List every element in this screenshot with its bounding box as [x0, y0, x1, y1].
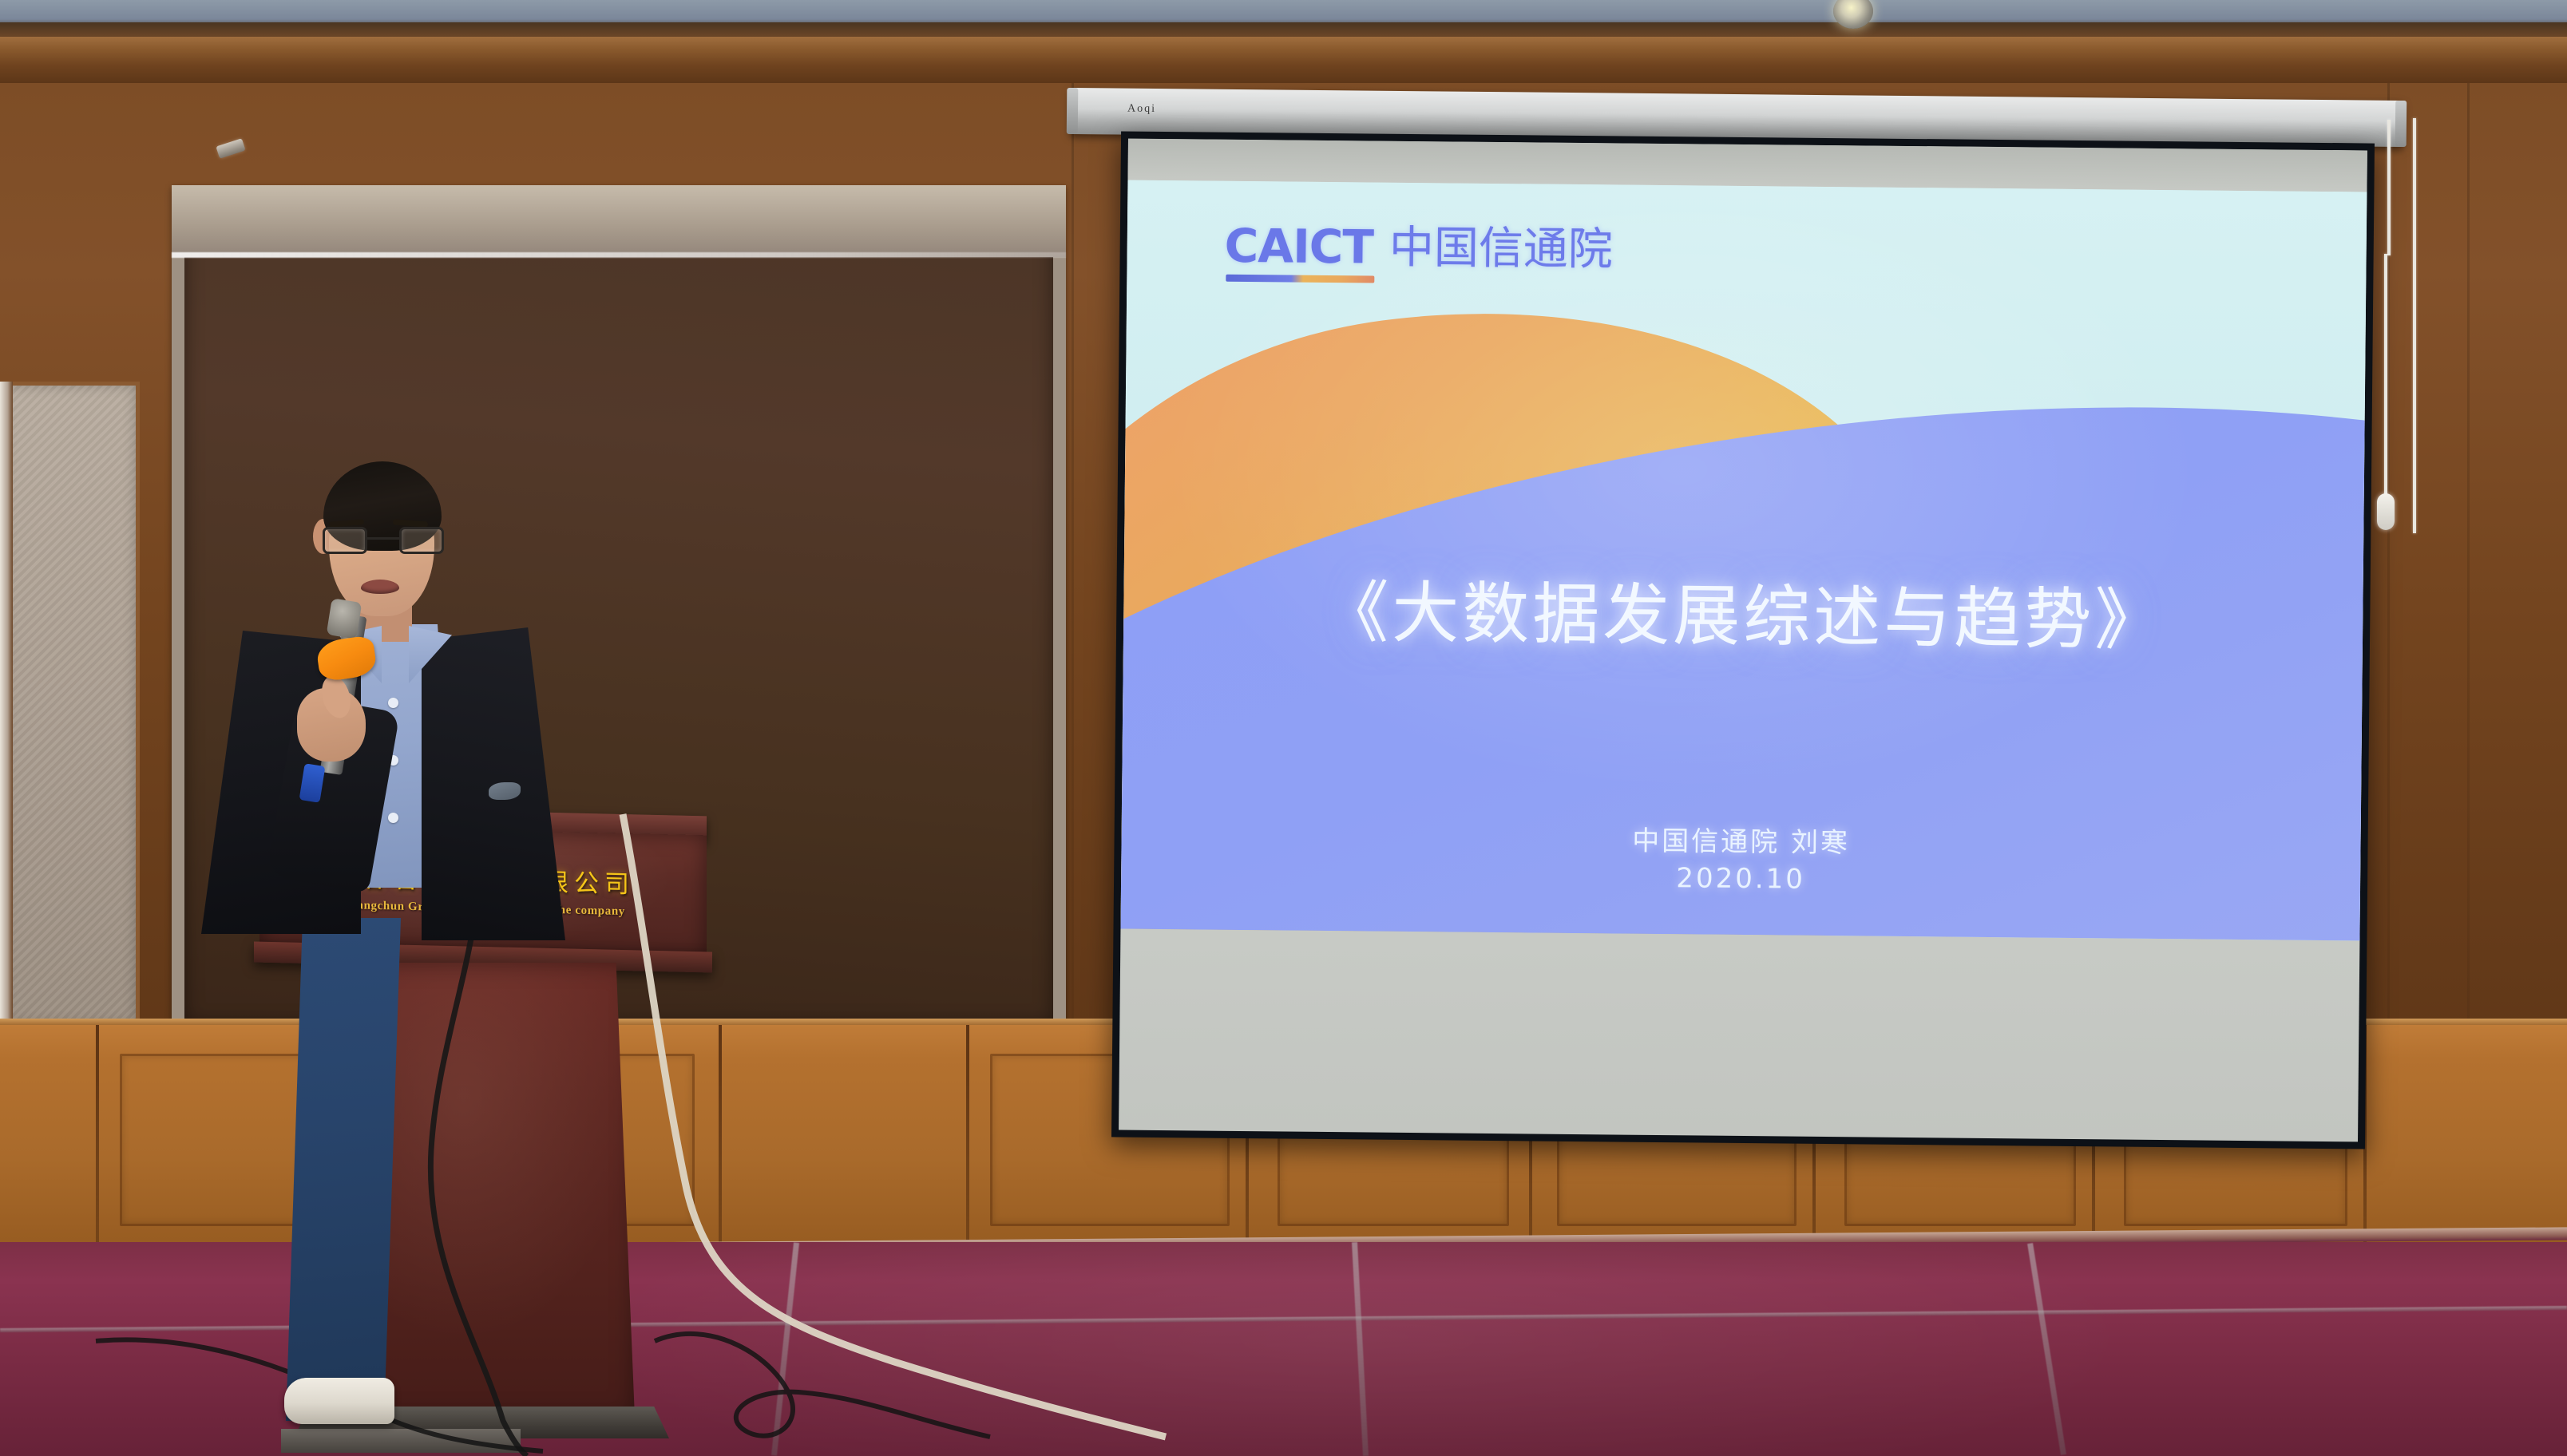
wall-board-highlight	[172, 252, 1066, 258]
caict-wordmark-group: CAICT	[1224, 223, 1373, 271]
wall-board-top-trim	[172, 185, 1066, 257]
caict-wordmark: CAICT	[1224, 223, 1373, 271]
crown-molding	[0, 37, 2567, 85]
caict-chinese-name: 中国信通院	[1389, 226, 1614, 273]
projected-slide: CAICT 中国信通院 《大数据发展综述与趋势》 中国信通院 刘寒 2020.1…	[1120, 180, 2367, 941]
projector-screen: CAICT 中国信通院 《大数据发展综述与趋势》 中国信通院 刘寒 2020.1…	[1111, 131, 2375, 1149]
slide-title: 《大数据发展综述与趋势》	[1123, 557, 2363, 666]
screen-fabric: CAICT 中国信通院 《大数据发展综述与趋势》 中国信通院 刘寒 2020.1…	[1119, 139, 2367, 1142]
glasses-lens-left	[323, 527, 367, 554]
caict-logo: CAICT 中国信通院	[1224, 223, 1613, 273]
screen-pull-cord[interactable]	[2387, 120, 2391, 255]
caict-gradient-underline-icon	[1226, 275, 1374, 283]
housing-end-cap-right	[2395, 101, 2407, 147]
speaker-glasses-icon	[323, 527, 444, 554]
screen-pull-cord-secondary[interactable]	[2413, 118, 2416, 533]
microphone-head	[327, 598, 362, 639]
glasses-bridge	[367, 537, 399, 540]
glasses-lens-right	[399, 527, 444, 554]
screen-cord-switch[interactable]	[2377, 493, 2395, 530]
shirt-button	[388, 813, 398, 823]
housing-brand-label: Aoqi	[1127, 103, 1156, 116]
presentation-photo-scene: Aoqi CAICT 中国信通院 《大数据发展综述与趋势》 中国信通院 刘寒	[0, 0, 2567, 1456]
wall-decor-panel-edge	[0, 382, 13, 1028]
shirt-button	[388, 698, 398, 708]
wall-decor-panel	[0, 382, 140, 1028]
jacket-chest-badge	[489, 782, 521, 800]
speaker-shoe	[284, 1378, 394, 1424]
housing-end-cap-left	[1067, 88, 1079, 134]
speaker-mouth	[361, 580, 399, 594]
screen-pull-cord-lower[interactable]	[2384, 254, 2387, 517]
floor-cable-loop	[655, 1309, 990, 1456]
